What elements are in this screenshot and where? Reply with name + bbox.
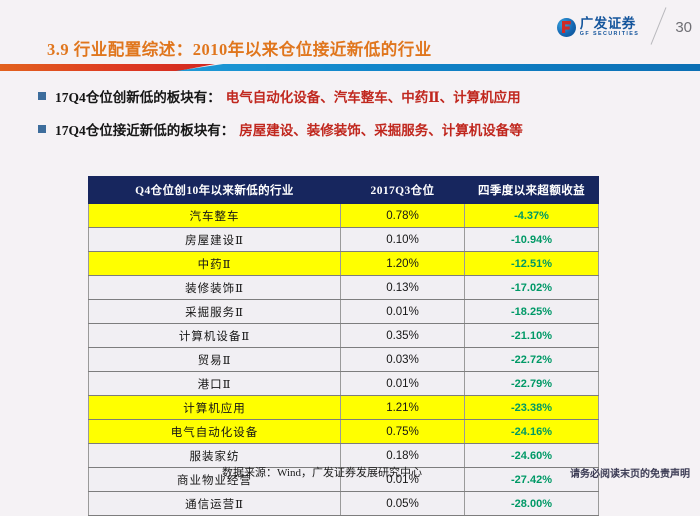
table-row: 电气自动化设备0.75%-24.16% — [89, 420, 599, 444]
bullet-list: 17Q4仓位创新低的板块有： 电气自动化设备、汽车整车、中药Ⅱ、计算机应用 17… — [0, 86, 700, 152]
bullet-item: 17Q4仓位接近新低的板块有： 房屋建设、装修装饰、采掘服务、计算机设备等 — [38, 119, 700, 139]
cell-excess-return: -17.02% — [465, 276, 599, 300]
cell-industry: 中药Ⅱ — [89, 252, 341, 276]
brand-name-cn: 广发证券 — [580, 17, 640, 31]
cell-industry: 港口Ⅱ — [89, 372, 341, 396]
header-accent-stripe — [0, 64, 700, 71]
cell-excess-return: -10.94% — [465, 228, 599, 252]
table-header-row: Q4仓位创10年以来新低的行业 2017Q3仓位 四季度以来超额收益 — [89, 177, 599, 204]
bullet-emphasis: 房屋建设、装修装饰、采掘服务、计算机设备等 — [239, 119, 523, 139]
slash-divider-icon — [645, 10, 671, 44]
slide-footer: 数据来源：Wind，广发证券发展研究中心 请务必阅读末页的免责声明 — [0, 462, 700, 485]
table-row: 计算机应用1.21%-23.38% — [89, 396, 599, 420]
cell-position: 0.05% — [341, 492, 465, 516]
brand-text: 广发证券 GF SECURITIES — [580, 17, 640, 38]
cell-position: 0.01% — [341, 372, 465, 396]
cell-industry: 通信运营Ⅱ — [89, 492, 341, 516]
cell-industry: 计算机应用 — [89, 396, 341, 420]
bullet-emphasis: 电气自动化设备、汽车整车、中药Ⅱ、计算机应用 — [226, 86, 521, 106]
cell-excess-return: -18.25% — [465, 300, 599, 324]
cell-excess-return: -4.37% — [465, 204, 599, 228]
cell-industry: 汽车整车 — [89, 204, 341, 228]
stripe-segment-red — [0, 64, 215, 71]
column-header-industry: Q4仓位创10年以来新低的行业 — [89, 177, 341, 204]
cell-position: 0.75% — [341, 420, 465, 444]
bullet-label: 17Q4仓位接近新低的板块有： — [55, 119, 234, 139]
cell-excess-return: -28.00% — [465, 492, 599, 516]
stripe-segment-blue — [176, 64, 700, 71]
column-header-position: 2017Q3仓位 — [341, 177, 465, 204]
cell-industry: 贸易Ⅱ — [89, 348, 341, 372]
cell-excess-return: -22.72% — [465, 348, 599, 372]
cell-position: 0.01% — [341, 300, 465, 324]
cell-excess-return: -21.10% — [465, 324, 599, 348]
cell-position: 0.35% — [341, 324, 465, 348]
table-row: 港口Ⅱ0.01%-22.79% — [89, 372, 599, 396]
cell-industry: 装修装饰Ⅱ — [89, 276, 341, 300]
table-header: Q4仓位创10年以来新低的行业 2017Q3仓位 四季度以来超额收益 — [89, 177, 599, 204]
cell-excess-return: -24.16% — [465, 420, 599, 444]
square-bullet-icon — [38, 125, 46, 133]
table-row: 采掘服务Ⅱ0.01%-18.25% — [89, 300, 599, 324]
gf-securities-logo-icon — [557, 18, 576, 37]
table-row: 汽车整车0.78%-4.37% — [89, 204, 599, 228]
cell-industry: 采掘服务Ⅱ — [89, 300, 341, 324]
table-row: 计算机设备Ⅱ0.35%-21.10% — [89, 324, 599, 348]
disclaimer-note: 请务必阅读末页的免责声明 — [570, 465, 690, 480]
table-row: 中药Ⅱ1.20%-12.51% — [89, 252, 599, 276]
bullet-item: 17Q4仓位创新低的板块有： 电气自动化设备、汽车整车、中药Ⅱ、计算机应用 — [38, 86, 700, 106]
cell-position: 1.21% — [341, 396, 465, 420]
slide-header: 3.9 行业配置综述：2010年以来仓位接近新低的行业 广发证券 GF SECU… — [0, 0, 700, 72]
page-title: 3.9 行业配置综述：2010年以来仓位接近新低的行业 — [47, 36, 432, 60]
cell-position: 0.03% — [341, 348, 465, 372]
cell-position: 0.10% — [341, 228, 465, 252]
bullet-label: 17Q4仓位创新低的板块有： — [55, 86, 221, 106]
brand-logo: 广发证券 GF SECURITIES 30 — [557, 12, 692, 42]
page-number: 30 — [673, 19, 692, 36]
cell-excess-return: -12.51% — [465, 252, 599, 276]
cell-excess-return: -22.79% — [465, 372, 599, 396]
table-row: 装修装饰Ⅱ0.13%-17.02% — [89, 276, 599, 300]
column-header-excess-return: 四季度以来超额收益 — [465, 177, 599, 204]
square-bullet-icon — [38, 92, 46, 100]
table-row: 房屋建设Ⅱ0.10%-10.94% — [89, 228, 599, 252]
cell-position: 0.13% — [341, 276, 465, 300]
cell-excess-return: -23.38% — [465, 396, 599, 420]
cell-industry: 房屋建设Ⅱ — [89, 228, 341, 252]
cell-industry: 电气自动化设备 — [89, 420, 341, 444]
cell-industry: 计算机设备Ⅱ — [89, 324, 341, 348]
cell-position: 1.20% — [341, 252, 465, 276]
brand-name-en: GF SECURITIES — [580, 32, 640, 37]
table-row: 贸易Ⅱ0.03%-22.72% — [89, 348, 599, 372]
source-note: 数据来源：Wind，广发证券发展研究中心 — [222, 464, 422, 480]
table-row: 通信运营Ⅱ0.05%-28.00% — [89, 492, 599, 516]
cell-position: 0.78% — [341, 204, 465, 228]
